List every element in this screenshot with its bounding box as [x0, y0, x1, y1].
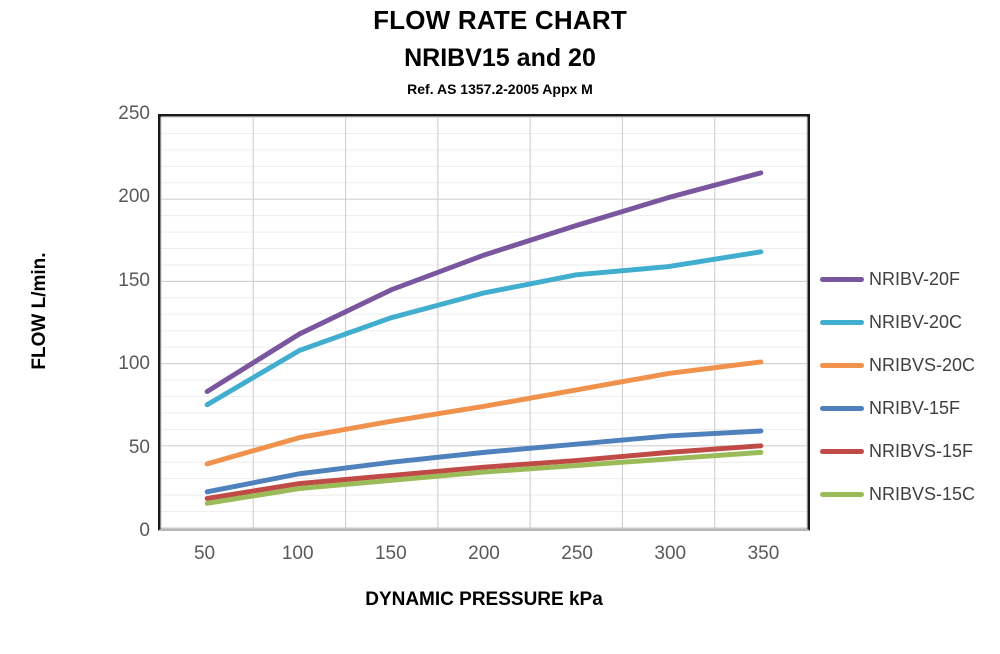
x-tick-label: 200	[444, 543, 524, 565]
legend-item-nribvs-20c[interactable]: NRIBVS-20C	[820, 344, 1000, 387]
chart-reference-note: Ref. AS 1357.2-2005 Appx M	[0, 81, 1000, 97]
y-tick-label: 250	[96, 103, 150, 125]
series-line-nribv-20c	[207, 252, 761, 405]
legend-swatch-icon	[820, 492, 864, 497]
y-tick-label: 0	[96, 520, 150, 542]
legend-label: NRIBV-15F	[869, 398, 960, 419]
legend-swatch-icon	[820, 363, 864, 368]
legend-item-nribv-15f[interactable]: NRIBV-15F	[820, 387, 1000, 430]
chart-title-block: FLOW RATE CHART NRIBV15 and 20 Ref. AS 1…	[0, 4, 1000, 97]
series-lines	[161, 117, 807, 528]
legend-swatch-icon	[820, 406, 864, 411]
x-tick-label: 300	[630, 543, 710, 565]
legend-item-nribvs-15c[interactable]: NRIBVS-15C	[820, 473, 1000, 516]
x-tick-label: 100	[258, 543, 338, 565]
chart-subtitle: NRIBV15 and 20	[0, 43, 1000, 74]
legend-item-nribvs-15f[interactable]: NRIBVS-15F	[820, 430, 1000, 473]
y-tick-label: 50	[96, 437, 150, 459]
legend-label: NRIBV-20C	[869, 312, 962, 333]
legend-label: NRIBV-20F	[869, 269, 960, 290]
x-tick-label: 50	[165, 543, 245, 565]
legend-item-nribv-20f[interactable]: NRIBV-20F	[820, 258, 1000, 301]
legend-swatch-icon	[820, 277, 864, 282]
y-tick-label: 100	[96, 353, 150, 375]
series-line-nribv-20f	[207, 173, 761, 392]
y-tick-label: 150	[96, 270, 150, 292]
x-axis-title: DYNAMIC PRESSURE kPa	[158, 589, 810, 611]
legend-swatch-icon	[820, 320, 864, 325]
series-line-nribvs-20c	[207, 362, 761, 464]
plot-area	[158, 114, 810, 531]
x-tick-label: 350	[723, 543, 803, 565]
y-tick-label: 200	[96, 186, 150, 208]
legend-swatch-icon	[820, 449, 864, 454]
x-tick-label: 250	[537, 543, 617, 565]
legend-item-nribv-20c[interactable]: NRIBV-20C	[820, 301, 1000, 344]
x-axis-tick-labels: 50100150200250300350	[158, 543, 810, 573]
flow-rate-chart: FLOW RATE CHART NRIBV15 and 20 Ref. AS 1…	[0, 0, 1000, 654]
y-axis-title: FLOW L/min.	[29, 211, 51, 411]
chart-legend: NRIBV-20FNRIBV-20CNRIBVS-20CNRIBV-15FNRI…	[820, 258, 1000, 516]
x-tick-label: 150	[351, 543, 431, 565]
y-axis-tick-labels: 050100150200250	[88, 114, 150, 531]
legend-label: NRIBVS-15C	[869, 484, 975, 505]
legend-label: NRIBVS-20C	[869, 355, 975, 376]
legend-label: NRIBVS-15F	[869, 441, 973, 462]
page-title: FLOW RATE CHART	[0, 4, 1000, 37]
